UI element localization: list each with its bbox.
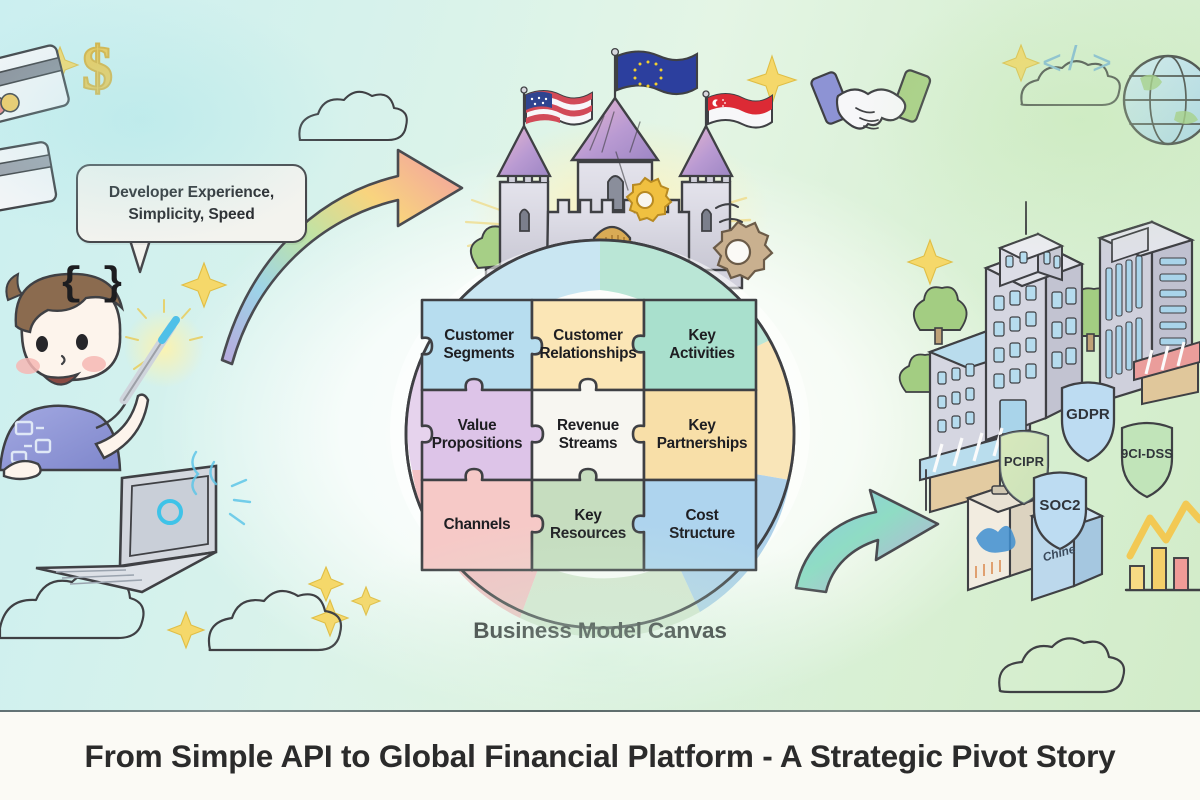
caption-banner: From Simple API to Global Financial Plat… [0,712,1200,800]
business-model-canvas [406,240,795,637]
speech-bubble: Developer Experience, Simplicity, Speed [76,164,307,243]
growth-chart [1126,504,1200,590]
developer-boy [0,274,250,592]
speech-bubble-text: Developer Experience, Simplicity, Speed [109,182,274,224]
globe-icon [1124,56,1200,144]
code-slash-icon: / [1068,40,1077,79]
credit-card-icon [0,44,70,216]
code-braces-icon: { } [59,262,122,307]
code-brackets-icon: < [1042,44,1062,83]
expansion-arrow [796,490,938,592]
dollar-sign-icon: $ [82,34,113,105]
code-bracket-right-icon: > [1092,44,1112,83]
scene-canvas: < / > $ { } Developer Experience, Simpli… [0,0,1200,712]
flag-singapore [708,94,772,128]
canvas-title: Business Model Canvas [398,618,802,644]
caption-text: From Simple API to Global Financial Plat… [85,738,1116,775]
speech-bubble-tail [130,240,150,272]
flag-eu [617,52,697,95]
decor-layer [0,0,1200,712]
speech-line-2: Simplicity, Speed [128,206,254,223]
illustration-root: < / > $ { } Developer Experience, Simpli… [0,0,1200,800]
flag-us [526,91,592,125]
handshake-icon [810,69,931,129]
speech-line-1: Developer Experience, [109,184,274,201]
